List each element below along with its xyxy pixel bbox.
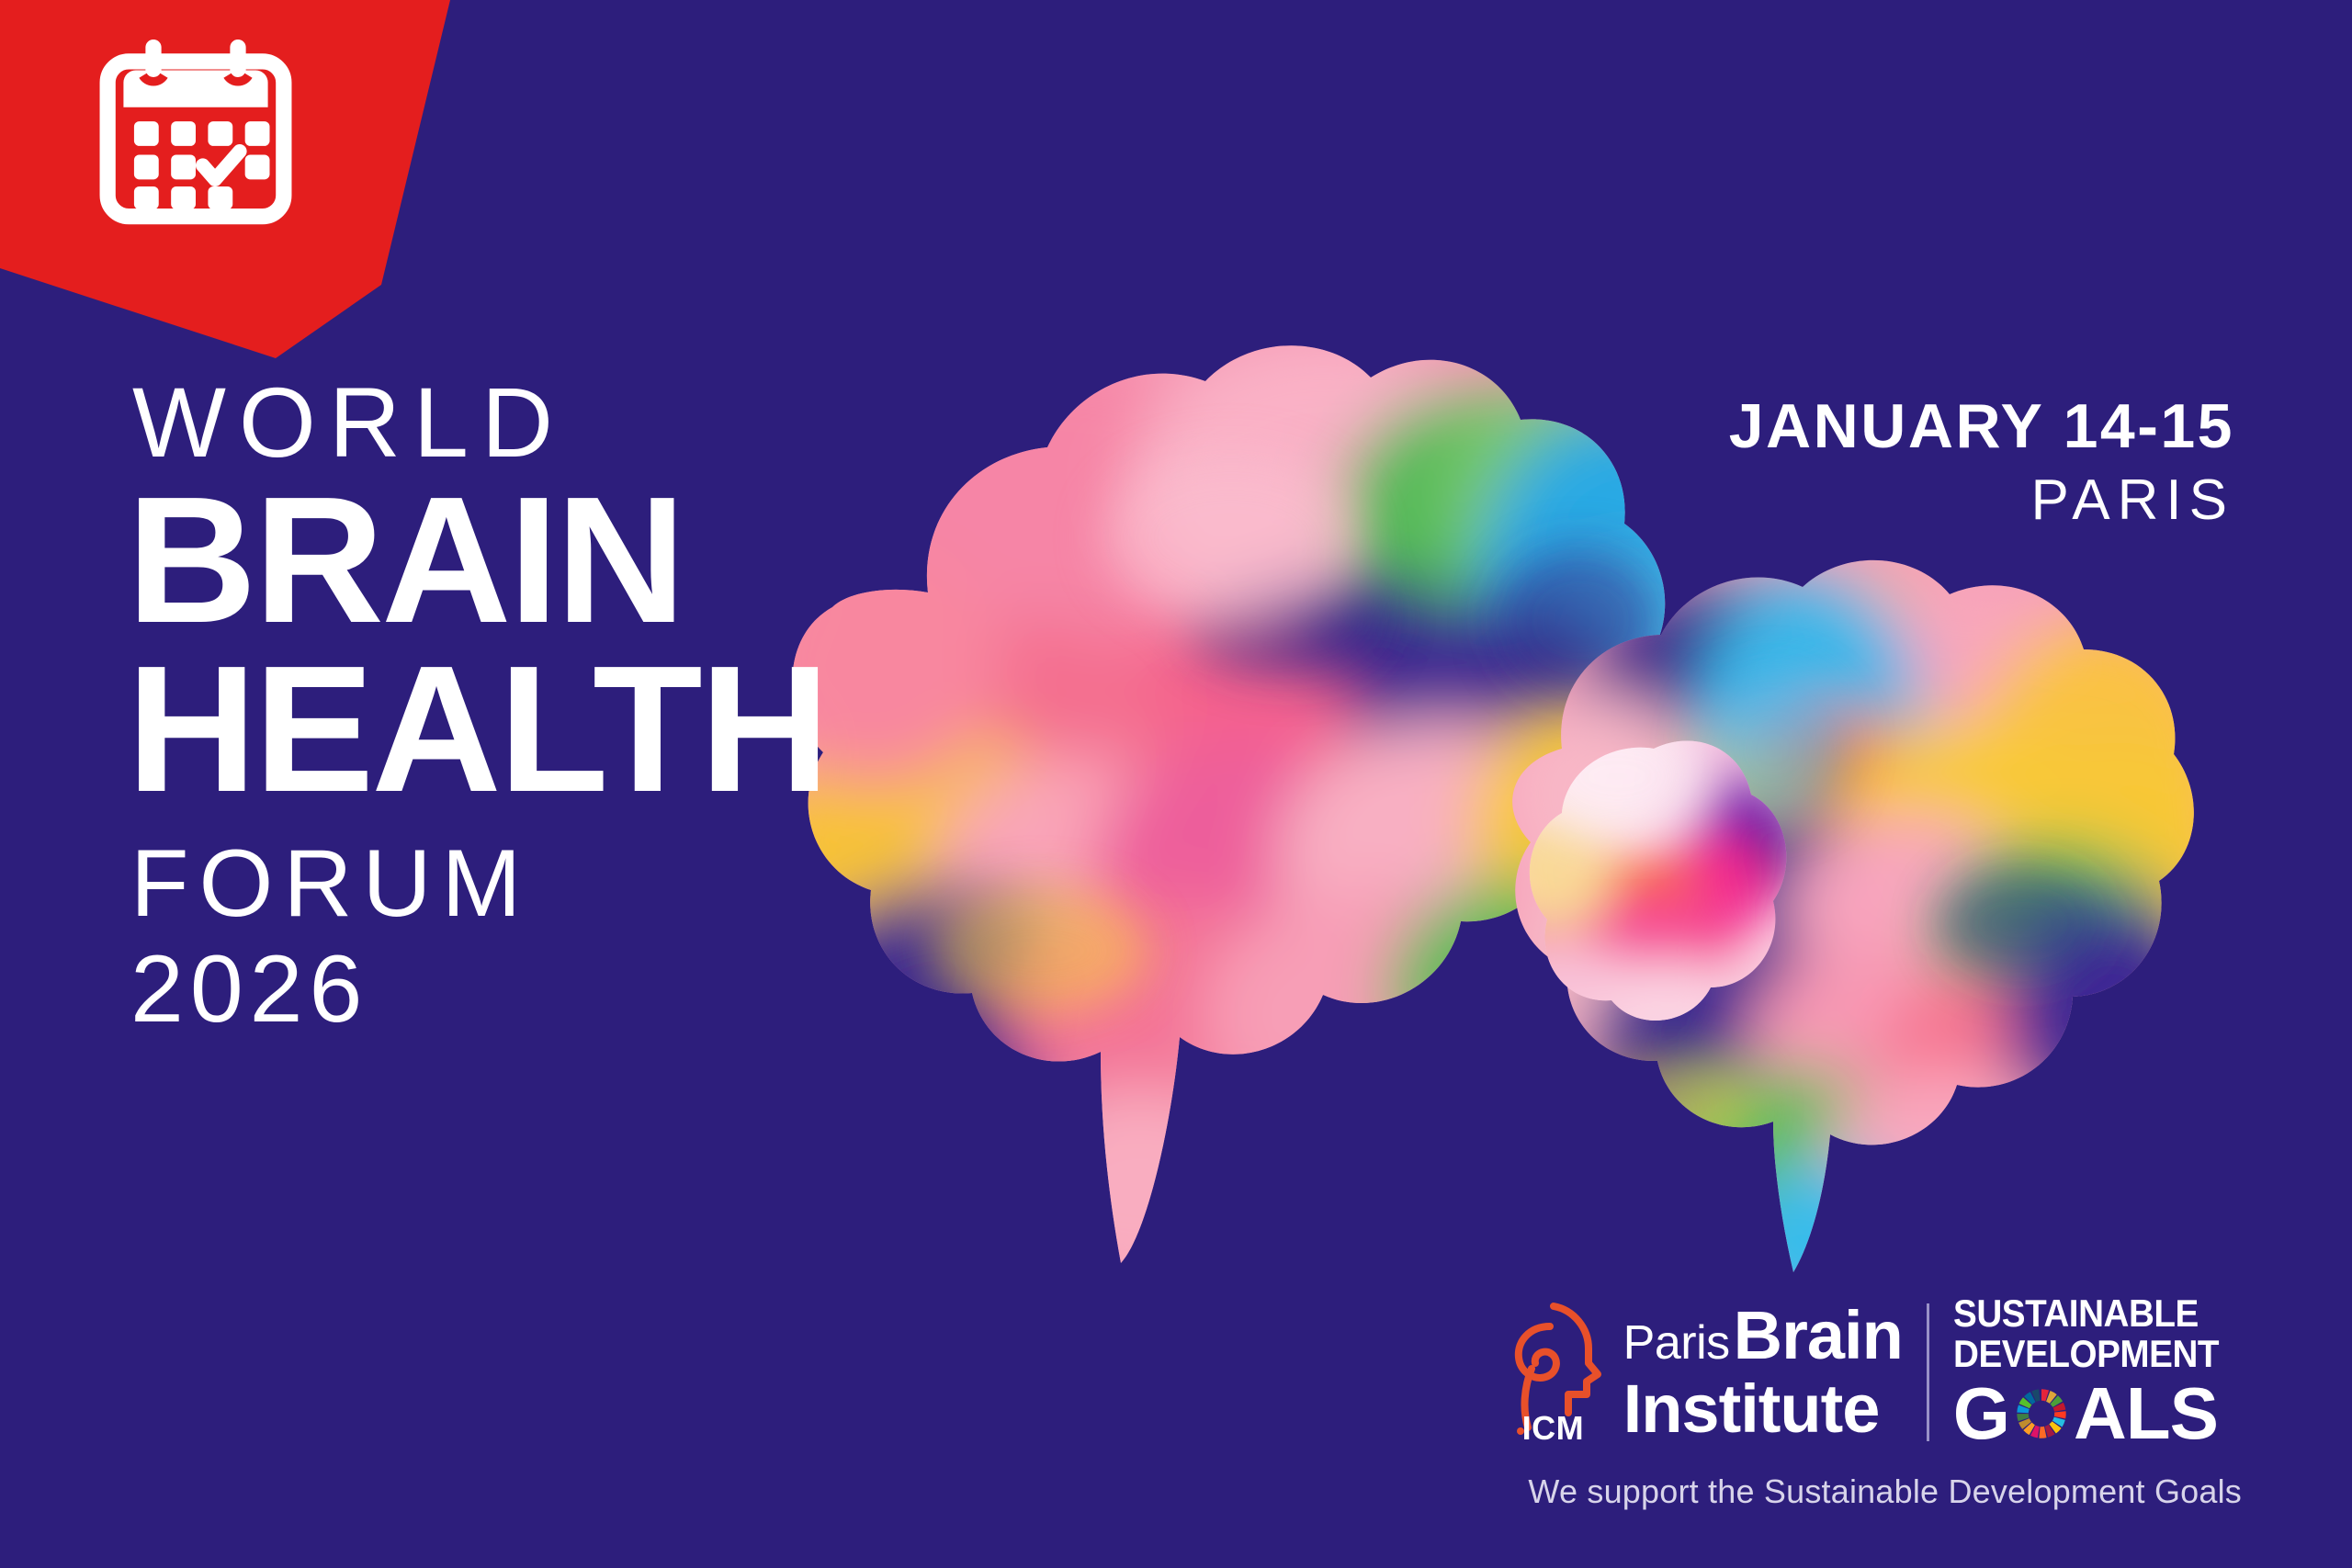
event-date: JANUARY 14-15 <box>1729 395 2234 457</box>
logo-divider <box>1927 1303 1929 1441</box>
sdg-tagline: We support the Sustainable Development G… <box>1528 1472 2242 1511</box>
calendar-check-icon <box>90 35 301 232</box>
icm-head-icon: ICM <box>1497 1299 1607 1446</box>
event-date-location: JANUARY 14-15 PARIS <box>1729 395 2234 529</box>
title-line-world: WORLD <box>132 372 827 473</box>
paris-brain-institute-wordmark: Paris Brain Institute <box>1623 1302 1903 1443</box>
title-line-forum: FORUM <box>130 830 827 937</box>
partner-logo-lockup: ICM Paris Brain Institute SUSTAINABLE DE… <box>1497 1294 2242 1450</box>
sdg-letters-als: ALS <box>2074 1377 2218 1450</box>
sdg-line-sustainable: SUSTAINABLE <box>1953 1294 2219 1333</box>
icm-abbreviation: ICM <box>1522 1409 1585 1448</box>
sdg-logo: SUSTAINABLE DEVELOPMENT G <box>1953 1294 2242 1450</box>
title-line-brain: BRAIN <box>127 477 827 644</box>
calendar-badge[interactable] <box>0 0 459 377</box>
title-line-health: HEALTH <box>127 646 827 813</box>
pbi-institute: Institute <box>1623 1375 1903 1443</box>
sdg-line-development: DEVELOPMENT <box>1953 1335 2219 1373</box>
poster-title: WORLD BRAIN HEALTH FORUM 2026 <box>127 372 827 1043</box>
pbi-brain: Brain <box>1734 1302 1903 1370</box>
sdg-color-wheel-icon <box>2011 1383 2072 1444</box>
sdg-letter-g: G <box>1953 1377 2009 1450</box>
event-city: PARIS <box>1729 472 2234 529</box>
pbi-paris: Paris <box>1623 1319 1730 1367</box>
event-poster: WORLD BRAIN HEALTH FORUM 2026 JANUARY 14… <box>0 0 2352 1568</box>
title-line-year: 2026 <box>130 937 827 1042</box>
